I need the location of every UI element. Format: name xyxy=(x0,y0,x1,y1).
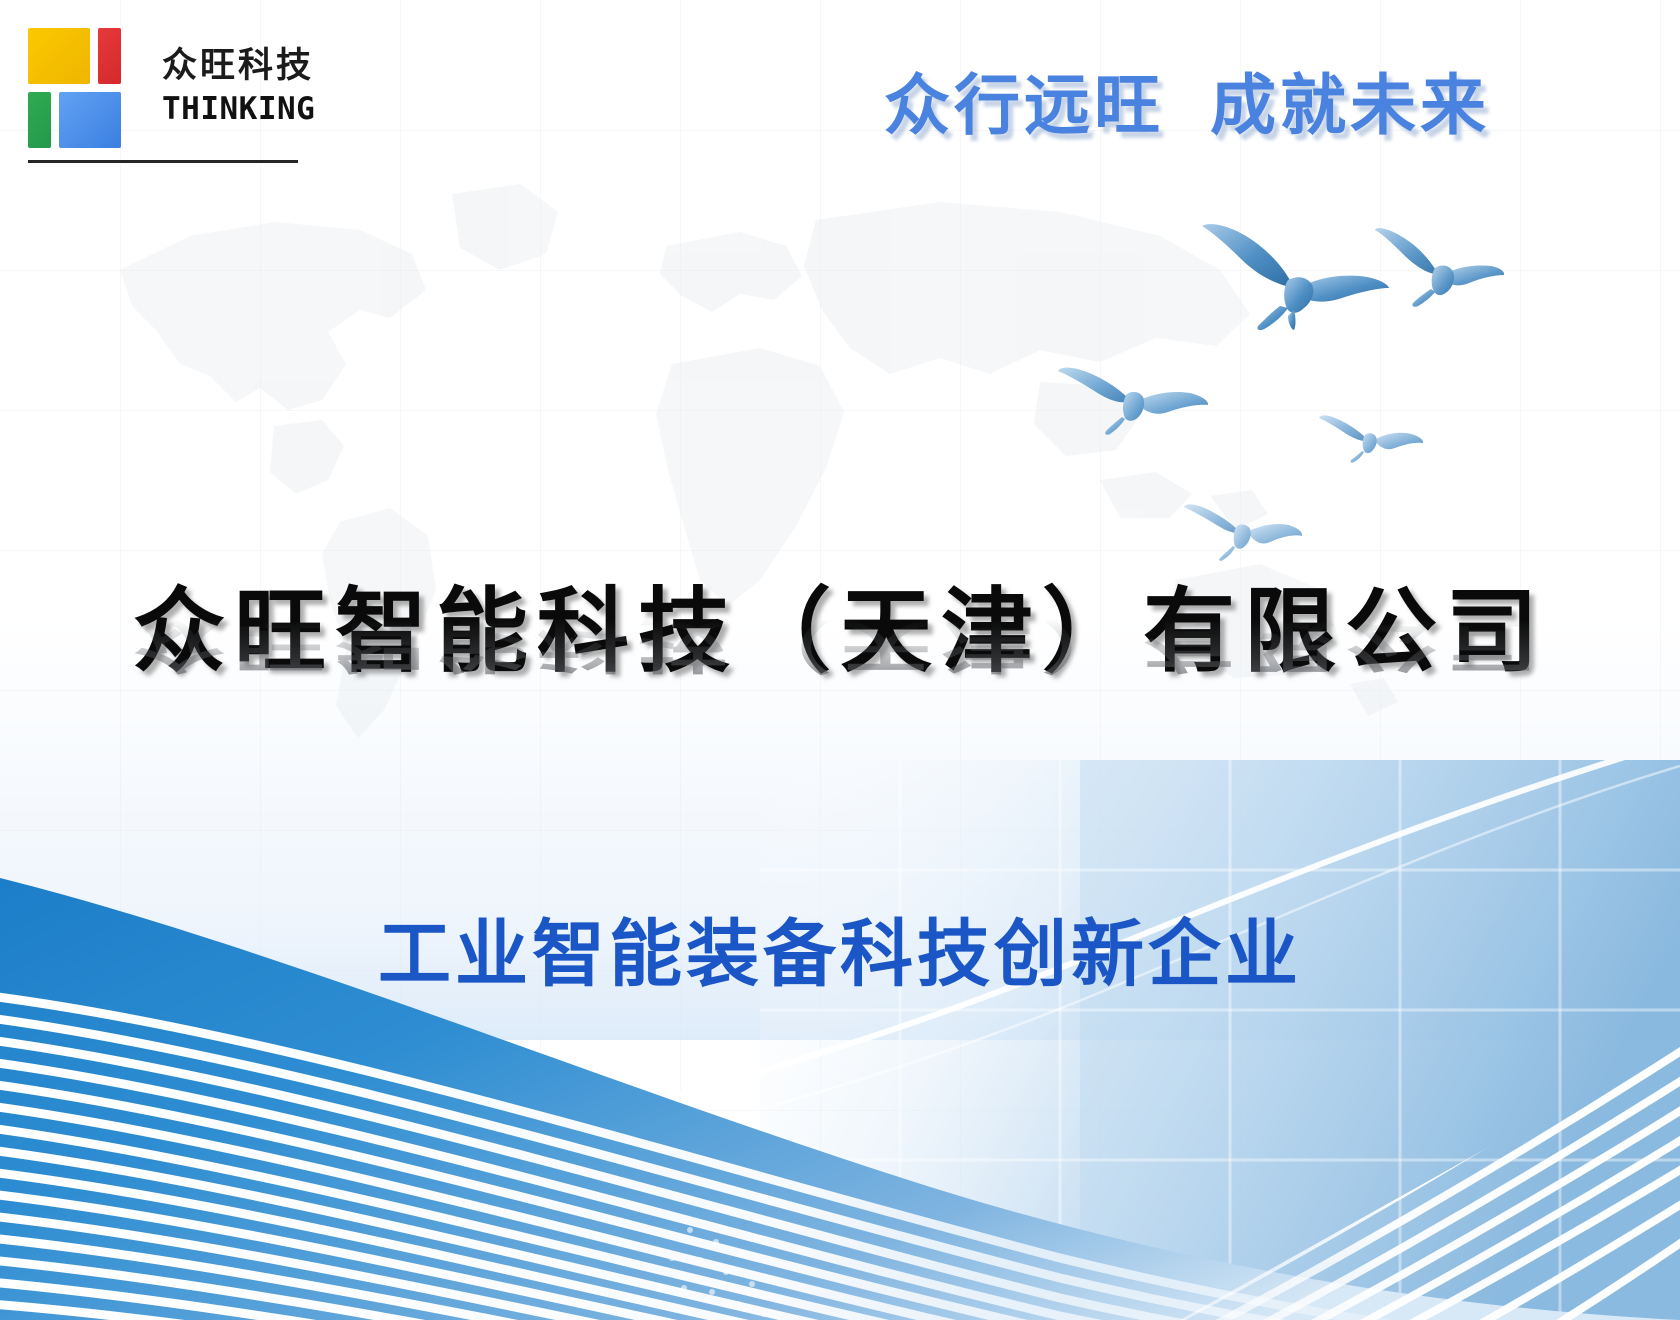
header-slogan: 众行远旺成就未来 xyxy=(884,52,1490,148)
title-block: 众旺智能科技（天津）有限公司 众旺智能科技（天津）有限公司 xyxy=(0,580,1680,780)
logo-mark-icon xyxy=(28,28,140,146)
logo-tile-green xyxy=(28,92,51,148)
company-logo: 众旺科技 THINKING xyxy=(28,28,315,146)
slide-header: 众旺科技 THINKING 众行远旺成就未来 xyxy=(0,0,1680,186)
seagull-icon xyxy=(1318,412,1424,466)
logo-wordmark: 众旺科技 THINKING xyxy=(154,31,315,143)
logo-tile-blue xyxy=(59,92,121,148)
seagull-icon xyxy=(1182,500,1304,566)
logo-tile-yellow xyxy=(28,28,90,84)
logo-underline xyxy=(28,160,298,163)
slogan-part-right: 成就未来 xyxy=(1210,67,1490,144)
seagull-icon xyxy=(1375,226,1505,308)
logo-name-cn: 众旺科技 xyxy=(162,46,315,86)
presentation-slide: 众旺科技 THINKING 众行远旺成就未来 众旺智能科技（天津）有限公司 众旺… xyxy=(0,0,1680,1320)
seagull-icon xyxy=(1058,362,1210,438)
company-title-reflection: 众旺智能科技（天津）有限公司 xyxy=(0,613,1680,677)
company-subtitle: 工业智能装备科技创新企业 xyxy=(0,895,1680,1001)
blue-ribbon-waves xyxy=(0,760,1680,1320)
slogan-part-left: 众行远旺 xyxy=(884,67,1164,144)
seagull-icon xyxy=(1200,222,1390,332)
logo-name-en: THINKING xyxy=(162,92,315,128)
logo-tile-red xyxy=(98,28,121,84)
